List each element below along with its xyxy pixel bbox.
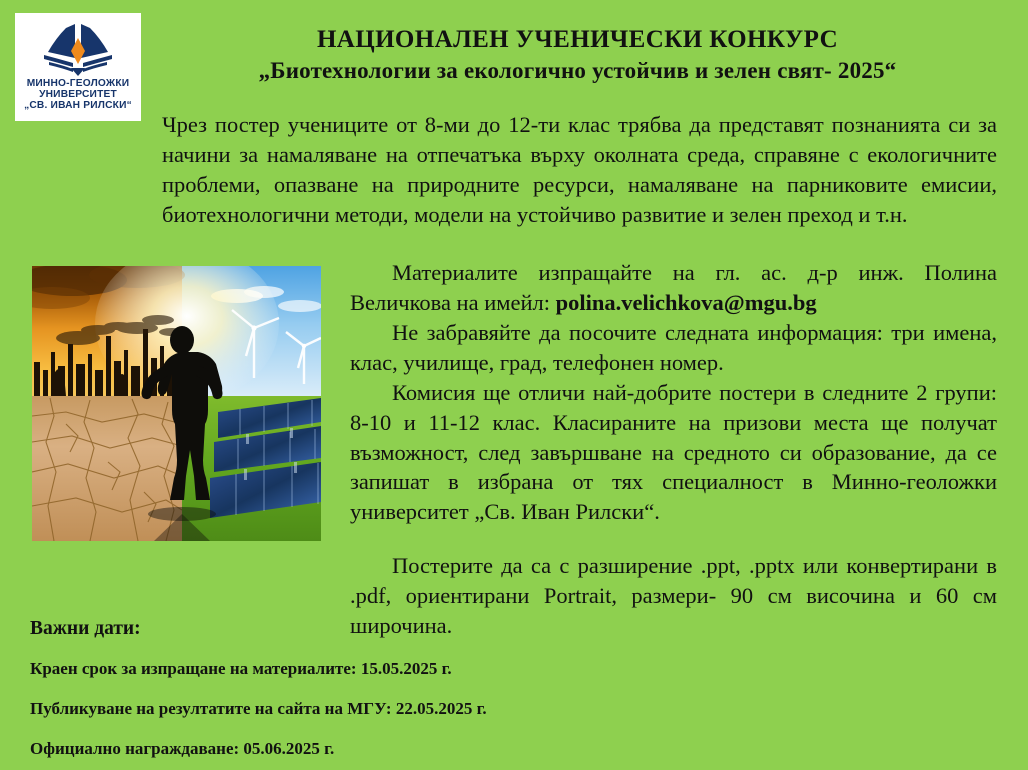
intro-paragraph: Чрез постер учениците от 8-ми до 12-ти к… — [162, 110, 997, 230]
jury-groups-paragraph: Комисия ще отличи най-добрите постери в … — [350, 378, 997, 528]
date-row-deadline: Краен срок за изпращане на материалите: … — [30, 659, 990, 679]
required-info-paragraph: Не забравяйте да посочите следната инфор… — [350, 318, 997, 378]
university-logo-box: МИННО-ГЕОЛОЖКИ УНИВЕРСИТЕТ „СВ. ИВАН РИЛ… — [15, 13, 141, 121]
climate-contrast-photo — [32, 266, 321, 541]
important-dates-block: Важни дати: Краен срок за изпращане на м… — [30, 618, 990, 759]
contact-paragraph: Материалите изпращайте на гл. ас. д-р ин… — [350, 258, 997, 318]
logo-line-university: УНИВЕРСИТЕТ — [39, 89, 117, 100]
important-dates-heading: Важни дати: — [30, 618, 990, 640]
page-title: НАЦИОНАЛЕН УЧЕНИЧЕСКИ КОНКУРС — [150, 26, 1005, 54]
date-row-results: Публикуване на резултатите на сайта на М… — [30, 699, 990, 719]
logo-line-patron: „СВ. ИВАН РИЛСКИ“ — [24, 100, 132, 111]
climate-contrast-illustration — [32, 266, 321, 541]
body-text-column: Материалите изпращайте на гл. ас. д-р ин… — [350, 258, 997, 641]
mgu-book-mountain-emblem — [35, 18, 121, 76]
page-subtitle: „Биотехнологии за екологично устойчив и … — [150, 58, 1005, 84]
logo-line-university-type: МИННО-ГЕОЛОЖКИ — [27, 78, 130, 89]
date-row-ceremony: Официално награждаване: 05.06.2025 г. — [30, 739, 990, 759]
contact-email[interactable]: polina.velichkova@mgu.bg — [556, 290, 817, 315]
